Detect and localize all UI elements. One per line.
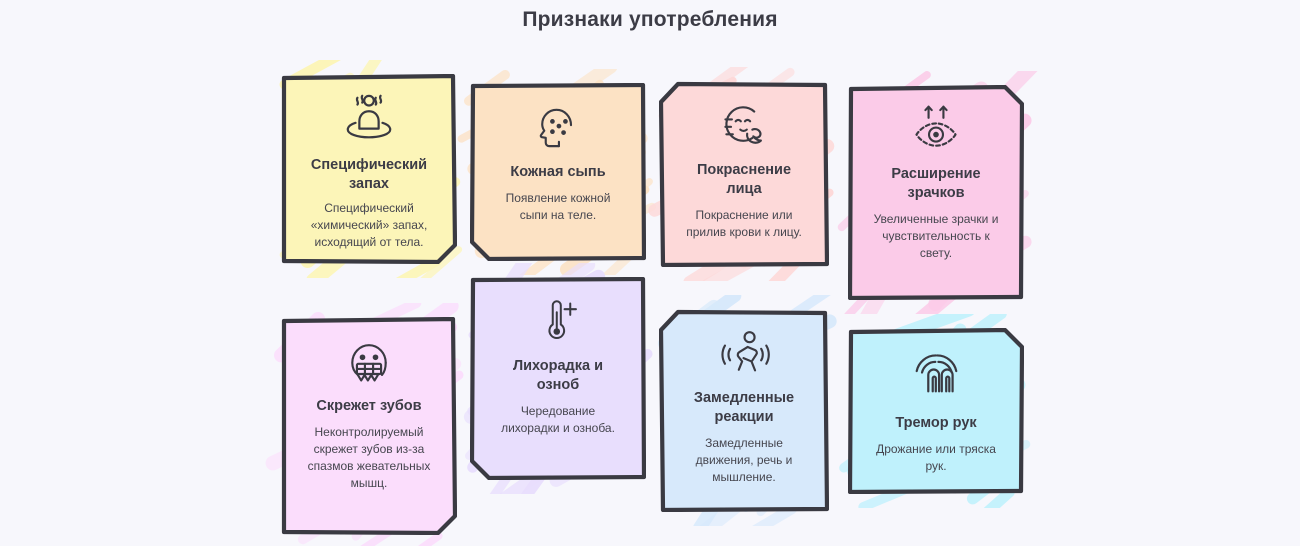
symptom-card-fever-chills[interactable]: Лихорадка и ознобЧередование лихорадки и… (470, 277, 646, 480)
symptom-card-slowed-reactions[interactable]: Замедленные реакцииЗамедленные движения,… (659, 309, 829, 512)
card-title: Замедленные реакции (673, 389, 815, 427)
card-description: Чередование лихорадки и озноба. (484, 403, 632, 437)
running-figure-icon (673, 327, 815, 379)
card-description: Специфический «химический» запах, исходя… (295, 200, 443, 251)
grinding-teeth-face-icon (295, 335, 443, 387)
symptom-card-facial-flushing[interactable]: Покраснение лицаПокраснение или прилив к… (659, 81, 829, 267)
card-title: Скрежет зубов (310, 397, 427, 416)
card-description: Неконтролируемый скрежет зубов из-за спа… (295, 424, 443, 492)
blushing-face-icon (673, 99, 815, 151)
shaking-hands-icon (862, 346, 1010, 400)
symptom-card-hand-tremor[interactable]: Тремор рукДрожание или тряска рук. (848, 328, 1024, 494)
symptom-card-specific-smell[interactable]: Специфический запахСпецифический «химиче… (281, 74, 457, 264)
symptom-card-teeth-grinding[interactable]: Скрежет зубовНеконтролируемый скрежет зу… (281, 317, 457, 535)
symptoms-infographic: Признаки употребления Специфический запа… (0, 0, 1300, 546)
cards-board: Специфический запахСпецифический «химиче… (0, 0, 1300, 546)
symptom-card-dilated-pupils[interactable]: Расширение зрачковУвеличенные зрачки и ч… (848, 85, 1024, 300)
card-title: Кожная сыпь (504, 163, 611, 182)
dilated-eye-icon (862, 103, 1010, 155)
card-description: Дрожание или тряска рук. (862, 441, 1010, 475)
card-title: Покраснение лица (673, 161, 815, 199)
card-title: Расширение зрачков (862, 165, 1010, 203)
card-description: Покраснение или прилив крови к лицу. (673, 207, 815, 241)
card-title: Специфический запах (295, 156, 443, 194)
smell-person-icon (295, 92, 443, 146)
card-title: Лихорадка и озноб (484, 357, 632, 395)
head-rash-icon (484, 101, 632, 153)
card-description: Замедленные движения, речь и мышление. (673, 435, 815, 486)
card-title: Тремор рук (889, 414, 982, 433)
thermometer-plus-icon (484, 295, 632, 347)
card-description: Появление кожной сыпи на теле. (484, 190, 632, 224)
card-description: Увеличенные зрачки и чувствительность к … (862, 211, 1010, 262)
symptom-card-skin-rash[interactable]: Кожная сыпьПоявление кожной сыпи на теле… (470, 83, 646, 261)
